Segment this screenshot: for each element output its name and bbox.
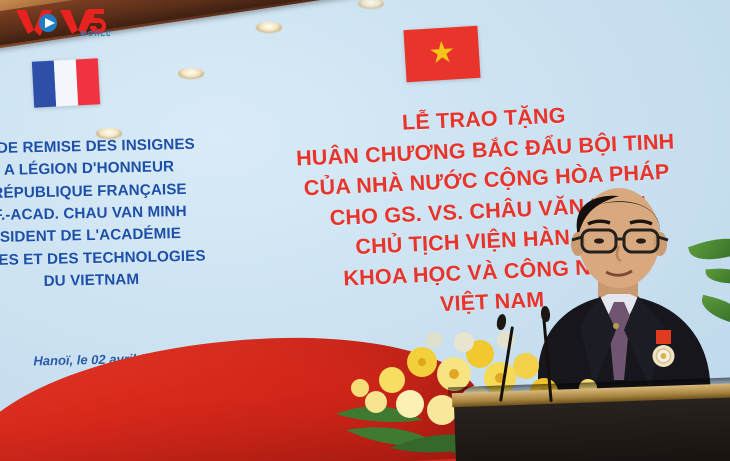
french-title-block: E DE REMISE DES INSIGNES A LÉGION D'HONN… [0,133,240,296]
screenshot-root: WORLD ★ E DE REMISE DES INSIGNES A LÉGIO… [0,0,730,461]
downlight-3 [256,22,282,33]
downlight-2 [178,68,204,79]
vov5-world-logo: WORLD [14,6,110,40]
logo-sub-text: WORLD [80,31,110,38]
vietnam-flag-star: ★ [428,38,457,70]
flag-of-france [32,58,100,107]
france-flag-blue-band [32,61,56,108]
france-flag-red-band [76,58,100,105]
flag-of-vietnam: ★ [403,26,480,82]
france-flag-white-band [54,59,78,106]
